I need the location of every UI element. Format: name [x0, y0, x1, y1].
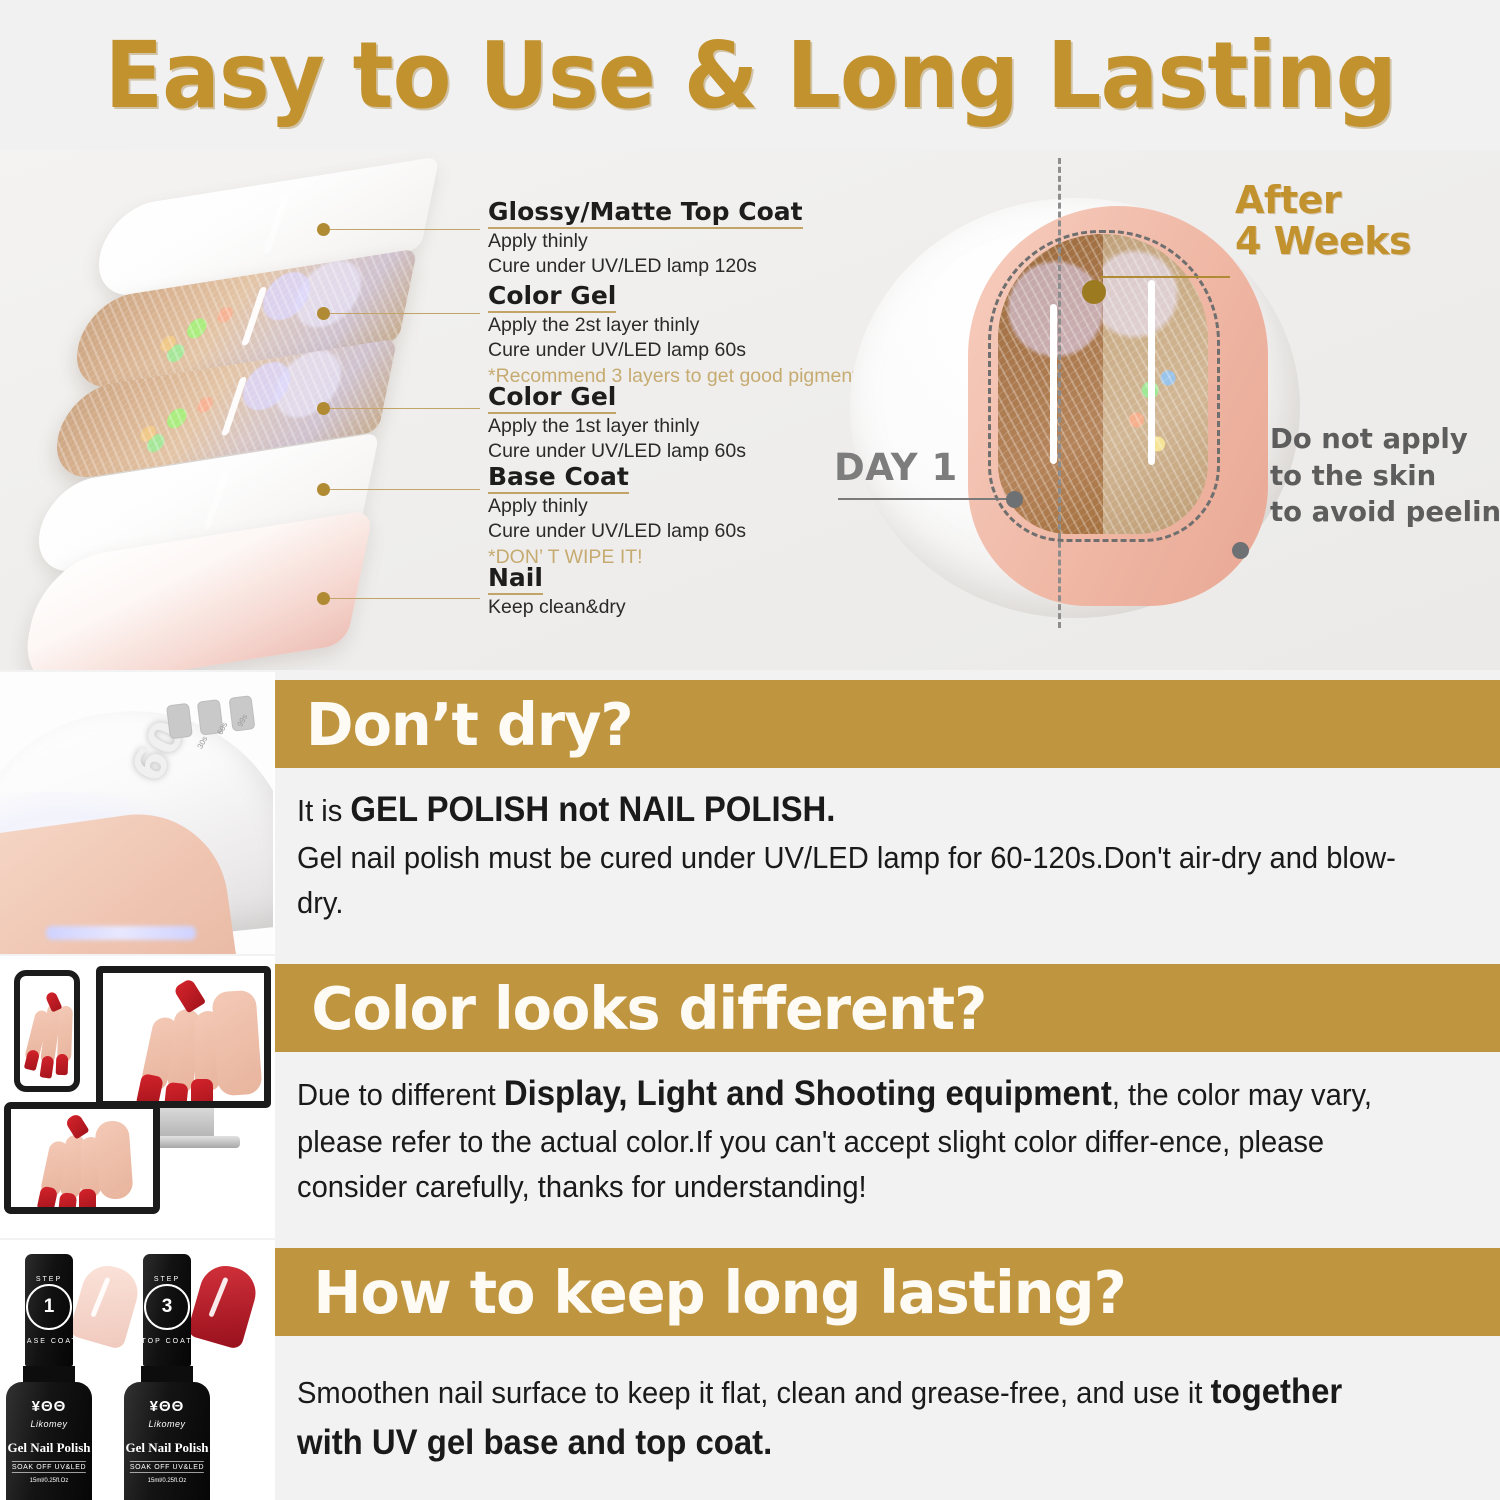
bottle-cap: STEP 1 BASE COAT [25, 1254, 73, 1366]
step-word-top: STEP [154, 1276, 180, 1283]
faq-title: Don’t dry? [306, 690, 633, 759]
bottle-volume: 15ml/0.25fl.Oz [148, 1478, 187, 1484]
bottle-neck [23, 1366, 75, 1382]
bottle-subtitle: SOAK OFF UV&LED [12, 1461, 86, 1473]
faq-body: Due to different Display, Light and Shoo… [297, 1068, 1416, 1210]
brand-logo: ¥ΘΘ [32, 1398, 67, 1415]
bottles-illustration: STEP 1 BASE COAT ¥ΘΘ Likomey Gel Nail Po… [0, 1240, 273, 1500]
devices-photo [0, 956, 275, 1238]
infographic-page: Easy to Use & Long Lasting Glossy/Matte … [0, 0, 1500, 1500]
leader-dot-after [1082, 280, 1106, 304]
step-word-bottom: TOP COAT [141, 1338, 192, 1345]
annotation-title: Nail [488, 564, 543, 595]
faq-body-lead: Smoothen nail surface to keep it flat, c… [297, 1375, 1211, 1410]
leader-line-color-gel-2 [330, 313, 480, 314]
nail-comparison-scene: After 4 Weeks DAY 1 Do not apply to the … [820, 158, 1440, 658]
after-label-line2: 4 Weeks [1235, 221, 1411, 262]
leader-dot-color-gel-1 [317, 402, 330, 415]
warning-line2: to the skin [1270, 458, 1500, 495]
timer-button-30s[interactable] [166, 703, 193, 740]
faq-content-dont-dry: Don’t dry? It is GEL POLISH not NAIL POL… [275, 672, 1500, 954]
annotation-title: Color Gel [488, 282, 616, 313]
after-4-weeks-label: After 4 Weeks [1235, 180, 1411, 262]
faq-section-color-different: Color looks different? Due to different … [0, 956, 1500, 1238]
bottle-subtitle: SOAK OFF UV&LED [130, 1461, 204, 1473]
annotation-title: Glossy/Matte Top Coat [488, 198, 803, 229]
faq-content-color-different: Color looks different? Due to different … [275, 956, 1500, 1238]
brand-name: Likomey [148, 1419, 185, 1429]
tablet-device [4, 1102, 160, 1214]
step-word-bottom: BASE COAT [20, 1338, 78, 1345]
faq-body: It is GEL POLISH not NAIL POLISH. Gel na… [297, 784, 1416, 926]
bottle-volume: 15ml/0.25fl.Oz [30, 1478, 69, 1484]
bottle-neck [141, 1366, 193, 1382]
leader-dot-warning [1232, 542, 1249, 559]
step-number-badge: 3 [144, 1284, 190, 1330]
faq-title-band: Don’t dry? [275, 680, 1500, 768]
nail-layer-stack [40, 160, 510, 660]
leader-dot-top-coat [317, 223, 330, 236]
faq-body-emphasis: GEL POLISH not NAIL POLISH. [350, 790, 835, 829]
bottle-cap: STEP 3 TOP COAT [143, 1254, 191, 1366]
faq-section-long-lasting: STEP 1 BASE COAT ¥ΘΘ Likomey Gel Nail Po… [0, 1240, 1500, 1500]
step-number-badge: 1 [26, 1284, 72, 1330]
phone-device [14, 970, 80, 1092]
skin-warning-label: Do not apply to the skin to avoid peelin… [1270, 421, 1500, 531]
bottle-step1-base-coat: STEP 1 BASE COAT ¥ΘΘ Likomey Gel Nail Po… [6, 1254, 92, 1500]
faq-title: Color looks different? [311, 974, 986, 1043]
leader-line-color-gel-1 [330, 408, 480, 409]
faq-body-rest: Gel nail polish must be cured under UV/L… [297, 840, 1396, 920]
leader-dot-color-gel-2 [317, 307, 330, 320]
uv-lamp-photo: 60 30s 60s 99s [0, 672, 275, 954]
faq-title-band: Color looks different? [275, 964, 1500, 1052]
faq-title: How to keep long lasting? [314, 1258, 1126, 1327]
annotation-title: Base Coat [488, 463, 629, 494]
faq-body-rest: with UV gel base and top coat. [297, 1423, 772, 1462]
bottle-body: ¥ΘΘ Likomey Gel Nail Polish SOAK OFF UV&… [124, 1382, 210, 1500]
bottles-photo: STEP 1 BASE COAT ¥ΘΘ Likomey Gel Nail Po… [0, 1240, 275, 1500]
leader-line-base-coat [330, 489, 480, 490]
brand-name: Likomey [30, 1419, 67, 1429]
bottle-product-title: Gel Nail Polish [7, 1440, 90, 1456]
after-label-line1: After [1235, 180, 1411, 221]
monitor-stand [152, 1108, 214, 1138]
leader-line-day1 [838, 498, 1013, 500]
faq-body-lead: It is [297, 793, 350, 828]
page-header: Easy to Use & Long Lasting [0, 0, 1500, 150]
uv-lamp-illustration: 60 30s 60s 99s [0, 672, 273, 954]
warning-line1: Do not apply [1270, 421, 1500, 458]
leader-line-top-coat [330, 229, 480, 230]
faq-body-emphasis: together [1211, 1372, 1343, 1411]
faq-section-dont-dry: 60 30s 60s 99s Don’t dry? It is GEL POLI… [0, 672, 1500, 954]
leader-line-nail [330, 598, 480, 599]
devices-illustration [0, 956, 273, 1238]
annotation-title: Color Gel [488, 383, 616, 414]
warning-line3: to avoid peeling [1270, 494, 1500, 531]
brand-logo: ¥ΘΘ [150, 1398, 185, 1415]
bottle-step3-top-coat: STEP 3 TOP COAT ¥ΘΘ Likomey Gel Nail Pol… [124, 1254, 210, 1500]
step-word-top: STEP [36, 1276, 62, 1283]
leader-dot-base-coat [317, 483, 330, 496]
day1-label: DAY 1 [834, 446, 958, 489]
lamp-led-strip [46, 926, 196, 940]
bottle-body: ¥ΘΘ Likomey Gel Nail Polish SOAK OFF UV&… [6, 1382, 92, 1500]
leader-line-after [1100, 276, 1230, 278]
bottle-product-title: Gel Nail Polish [125, 1440, 208, 1456]
leader-dot-nail [317, 592, 330, 605]
page-title: Easy to Use & Long Lasting [104, 22, 1395, 129]
faq-body-emphasis: Display, Light and Shooting equipment [504, 1074, 1112, 1113]
layer-diagram-panel: Glossy/Matte Top Coat Apply thinly Cure … [0, 150, 1500, 670]
faq-body-lead: Due to different [297, 1077, 504, 1112]
faq-title-band: How to keep long lasting? [275, 1248, 1500, 1336]
monitor-device [96, 966, 271, 1108]
faq-body: Smoothen nail surface to keep it flat, c… [297, 1366, 1416, 1468]
faq-content-long-lasting: How to keep long lasting? Smoothen nail … [275, 1240, 1500, 1500]
leader-dot-day1 [1006, 491, 1023, 508]
